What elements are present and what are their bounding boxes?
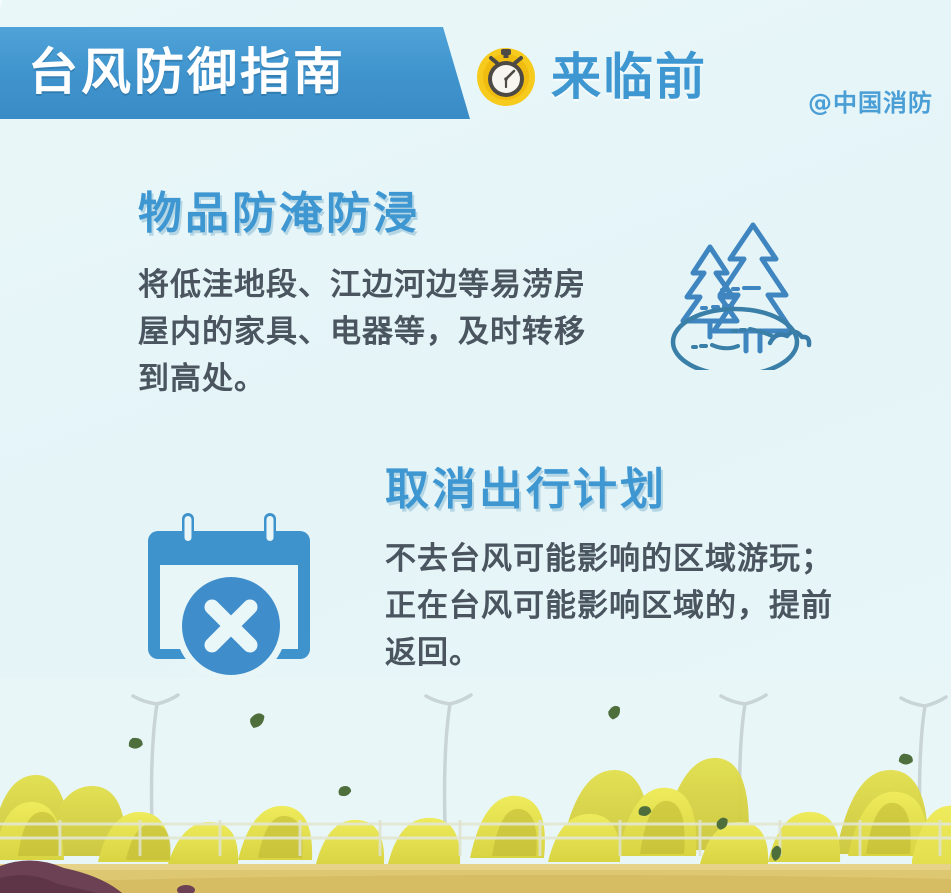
trees-lake-icon <box>660 195 830 370</box>
scenery-illustration <box>0 678 951 893</box>
section-heading: 取消出行计划 <box>385 462 855 518</box>
section-body: 将低洼地段、江边河边等易涝房屋内的家具、电器等，及时转移到高处。 <box>138 262 593 403</box>
section-goods-flood-protection: 物品防淹防浸 将低洼地段、江边河边等易涝房屋内的家具、电器等，及时转移到高处。 <box>138 186 608 403</box>
stopwatch-icon <box>476 46 536 106</box>
header: 台风防御指南 来临前 @中国消防 <box>0 27 951 119</box>
section-body: 不去台风可能影响的区域游玩；正在台风可能影响区域的，提前返回。 <box>385 536 840 677</box>
calendar-cancel-icon <box>140 505 325 690</box>
banner-title: 台风防御指南 <box>28 38 346 106</box>
infographic-poster: 台风防御指南 来临前 @中国消防 物品防淹防浸 将低洼地段、江边河边等易涝房屋内… <box>0 0 951 893</box>
account-handle: @中国消防 <box>808 83 933 118</box>
section-heading: 物品防淹防浸 <box>138 186 608 242</box>
section-cancel-travel-plans: 取消出行计划 不去台风可能影响的区域游玩；正在台风可能影响区域的，提前返回。 <box>385 462 855 677</box>
phase-title: 来临前 <box>551 47 707 107</box>
